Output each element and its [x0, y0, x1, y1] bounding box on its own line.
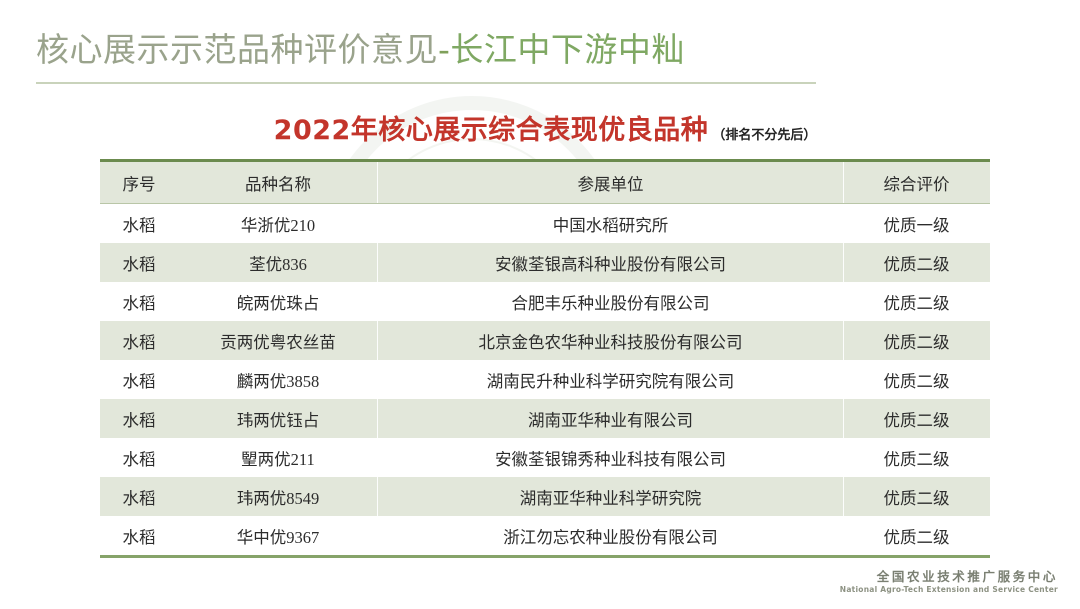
cell-eval: 优质二级: [843, 243, 990, 282]
cell-unit: 中国水稻研究所: [378, 204, 843, 244]
cell-no: 水稻: [100, 204, 178, 244]
table-row: 水稻朢两优211安徽荃银锦秀种业科技有限公司优质二级: [100, 438, 990, 477]
cell-unit: 湖南亚华种业科学研究院: [378, 477, 843, 516]
cell-name: 玮两优钰占: [178, 399, 378, 438]
cell-unit: 安徽荃银高科种业股份有限公司: [378, 243, 843, 282]
cell-eval: 优质二级: [843, 321, 990, 360]
cell-eval: 优质二级: [843, 516, 990, 557]
table-row: 水稻麟两优3858湖南民升种业科学研究院有限公司优质二级: [100, 360, 990, 399]
table-header-row: 序号 品种名称 参展单位 综合评价: [100, 161, 990, 204]
table-title-main: 2022年核心展示综合表现优良品种: [274, 115, 709, 146]
column-header-name: 品种名称: [178, 161, 378, 204]
cell-no: 水稻: [100, 360, 178, 399]
cell-eval: 优质二级: [843, 360, 990, 399]
page-title-main: 核心展示示范品种评价意见: [36, 30, 438, 69]
page-title: 核心展示示范品种评价意见-长江中下游中籼: [36, 28, 685, 72]
page-title-dash: -: [438, 30, 450, 69]
variety-table-block: 2022年核心展示综合表现优良品种（排名不分先后） 序号 品种名称 参展单位 综…: [100, 104, 990, 558]
table-title: 2022年核心展示综合表现优良品种（排名不分先后）: [100, 104, 990, 159]
heading-divider: [36, 82, 816, 84]
cell-unit: 湖南亚华种业有限公司: [378, 399, 843, 438]
cell-name: 朢两优211: [178, 438, 378, 477]
column-header-unit: 参展单位: [378, 161, 843, 204]
table-row: 水稻华中优9367浙江勿忘农种业股份有限公司优质二级: [100, 516, 990, 557]
cell-eval: 优质二级: [843, 282, 990, 321]
cell-eval: 优质一级: [843, 204, 990, 244]
table-row: 水稻玮两优钰占湖南亚华种业有限公司优质二级: [100, 399, 990, 438]
column-header-eval: 综合评价: [843, 161, 990, 204]
cell-unit: 浙江勿忘农种业股份有限公司: [378, 516, 843, 557]
cell-eval: 优质二级: [843, 477, 990, 516]
cell-no: 水稻: [100, 516, 178, 557]
table-header: 序号 品种名称 参展单位 综合评价: [100, 161, 990, 204]
table-row: 水稻华浙优210中国水稻研究所优质一级: [100, 204, 990, 244]
table-row: 水稻玮两优8549湖南亚华种业科学研究院优质二级: [100, 477, 990, 516]
cell-name: 贡两优粤农丝苗: [178, 321, 378, 360]
table-body: 水稻华浙优210中国水稻研究所优质一级水稻荃优836安徽荃银高科种业股份有限公司…: [100, 204, 990, 557]
cell-no: 水稻: [100, 399, 178, 438]
cell-unit: 湖南民升种业科学研究院有限公司: [378, 360, 843, 399]
footer-logo: 全国农业技术推广服务中心 National Agro-Tech Extensio…: [840, 569, 1058, 595]
footer-org-cn: 全国农业技术推广服务中心: [840, 569, 1058, 584]
cell-no: 水稻: [100, 321, 178, 360]
page-title-region: 长江中下游中籼: [450, 30, 685, 69]
table-row: 水稻贡两优粤农丝苗北京金色农华种业科技股份有限公司优质二级: [100, 321, 990, 360]
table-title-note: （排名不分先后）: [712, 128, 816, 143]
table-row: 水稻皖两优珠占合肥丰乐种业股份有限公司优质二级: [100, 282, 990, 321]
cell-name: 荃优836: [178, 243, 378, 282]
cell-no: 水稻: [100, 243, 178, 282]
footer-org-en: National Agro-Tech Extension and Service…: [840, 584, 1058, 595]
cell-no: 水稻: [100, 477, 178, 516]
cell-name: 麟两优3858: [178, 360, 378, 399]
cell-unit: 安徽荃银锦秀种业科技有限公司: [378, 438, 843, 477]
cell-name: 华浙优210: [178, 204, 378, 244]
cell-eval: 优质二级: [843, 399, 990, 438]
cell-no: 水稻: [100, 282, 178, 321]
cell-name: 华中优9367: [178, 516, 378, 557]
cell-name: 玮两优8549: [178, 477, 378, 516]
variety-table: 序号 品种名称 参展单位 综合评价 水稻华浙优210中国水稻研究所优质一级水稻荃…: [100, 159, 990, 558]
cell-name: 皖两优珠占: [178, 282, 378, 321]
cell-unit: 北京金色农华种业科技股份有限公司: [378, 321, 843, 360]
column-header-no: 序号: [100, 161, 178, 204]
table-row: 水稻荃优836安徽荃银高科种业股份有限公司优质二级: [100, 243, 990, 282]
cell-no: 水稻: [100, 438, 178, 477]
cell-unit: 合肥丰乐种业股份有限公司: [378, 282, 843, 321]
cell-eval: 优质二级: [843, 438, 990, 477]
